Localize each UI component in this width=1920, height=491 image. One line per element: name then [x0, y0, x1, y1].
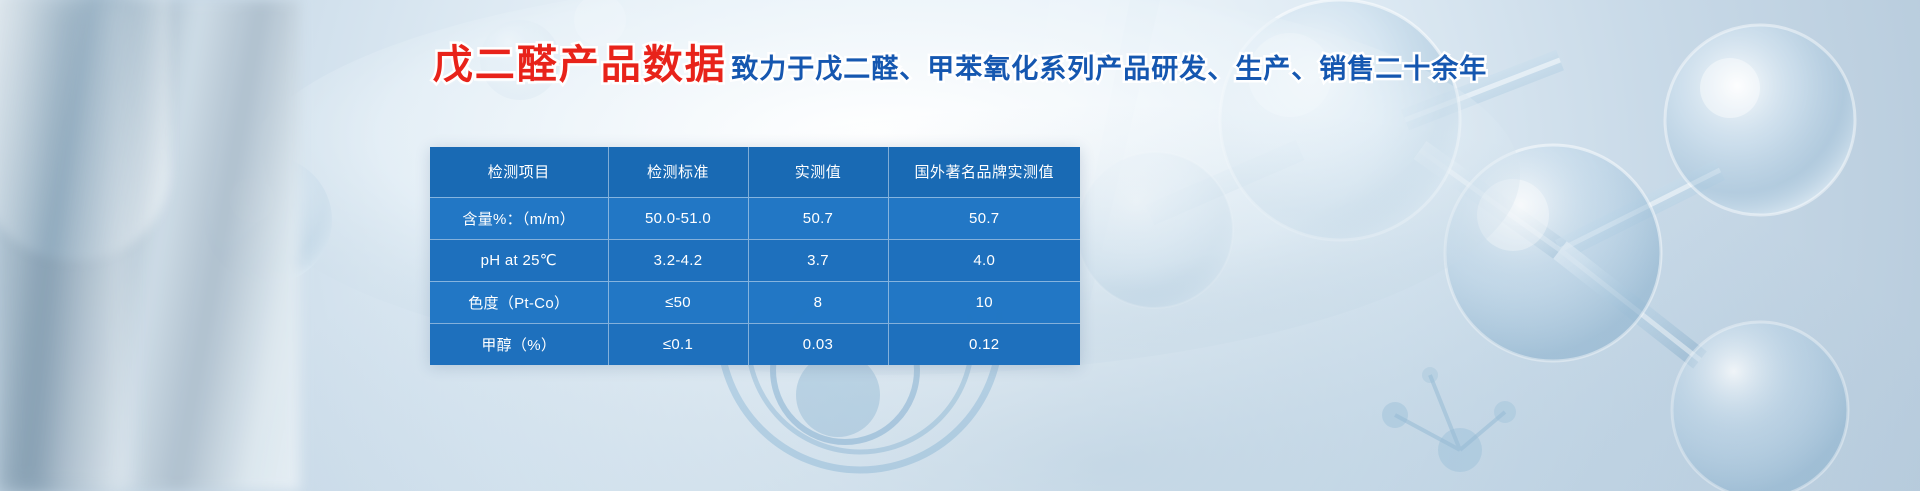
cell-test-item: 色度（Pt-Co）	[430, 281, 608, 323]
product-data-banner: 戊二醛产品数据 致力于戊二醛、甲苯氧化系列产品研发、生产、销售二十余年 检测项目…	[0, 0, 1920, 491]
cell-test-standard: 3.2-4.2	[608, 239, 748, 281]
table-row: 色度（Pt-Co） ≤50 8 10	[430, 281, 1080, 323]
cell-test-standard: ≤0.1	[608, 323, 748, 365]
table-row: pH at 25℃ 3.2-4.2 3.7 4.0	[430, 239, 1080, 281]
table-row: 甲醇（%） ≤0.1 0.03 0.12	[430, 323, 1080, 365]
table-row: 含量%：（m/m） 50.0-51.0 50.7 50.7	[430, 197, 1080, 239]
page-title: 戊二醛产品数据	[433, 44, 727, 86]
table-header-row: 检测项目 检测标准 实测值 国外著名品牌实测值	[430, 147, 1080, 197]
column-header-foreign-brand: 国外著名品牌实测值	[888, 147, 1080, 197]
cell-foreign-brand: 10	[888, 281, 1080, 323]
cell-foreign-brand: 0.12	[888, 323, 1080, 365]
cell-measured-value: 3.7	[748, 239, 888, 281]
cell-foreign-brand: 4.0	[888, 239, 1080, 281]
table-head: 检测项目 检测标准 实测值 国外著名品牌实测值	[430, 147, 1080, 197]
banner-headings: 戊二醛产品数据 致力于戊二醛、甲苯氧化系列产品研发、生产、销售二十余年	[0, 44, 1920, 86]
column-header-measured-value: 实测值	[748, 147, 888, 197]
cell-foreign-brand: 50.7	[888, 197, 1080, 239]
column-header-test-item: 检测项目	[430, 147, 608, 197]
test-tube-shape	[0, 0, 170, 260]
cell-test-standard: 50.0-51.0	[608, 197, 748, 239]
column-header-test-standard: 检测标准	[608, 147, 748, 197]
cell-test-item: 含量%：（m/m）	[430, 197, 608, 239]
product-data-table: 检测项目 检测标准 实测值 国外著名品牌实测值 含量%：（m/m） 50.0-5…	[430, 147, 1080, 365]
cell-test-item: 甲醇（%）	[430, 323, 608, 365]
cell-measured-value: 50.7	[748, 197, 888, 239]
cell-test-standard: ≤50	[608, 281, 748, 323]
cell-measured-value: 0.03	[748, 323, 888, 365]
table-body: 含量%：（m/m） 50.0-51.0 50.7 50.7 pH at 25℃ …	[430, 197, 1080, 365]
page-subtitle: 致力于戊二醛、甲苯氧化系列产品研发、生产、销售二十余年	[731, 55, 1487, 85]
product-data-table-wrapper: 检测项目 检测标准 实测值 国外著名品牌实测值 含量%：（m/m） 50.0-5…	[430, 147, 1080, 365]
cell-measured-value: 8	[748, 281, 888, 323]
cell-test-item: pH at 25℃	[430, 239, 608, 281]
